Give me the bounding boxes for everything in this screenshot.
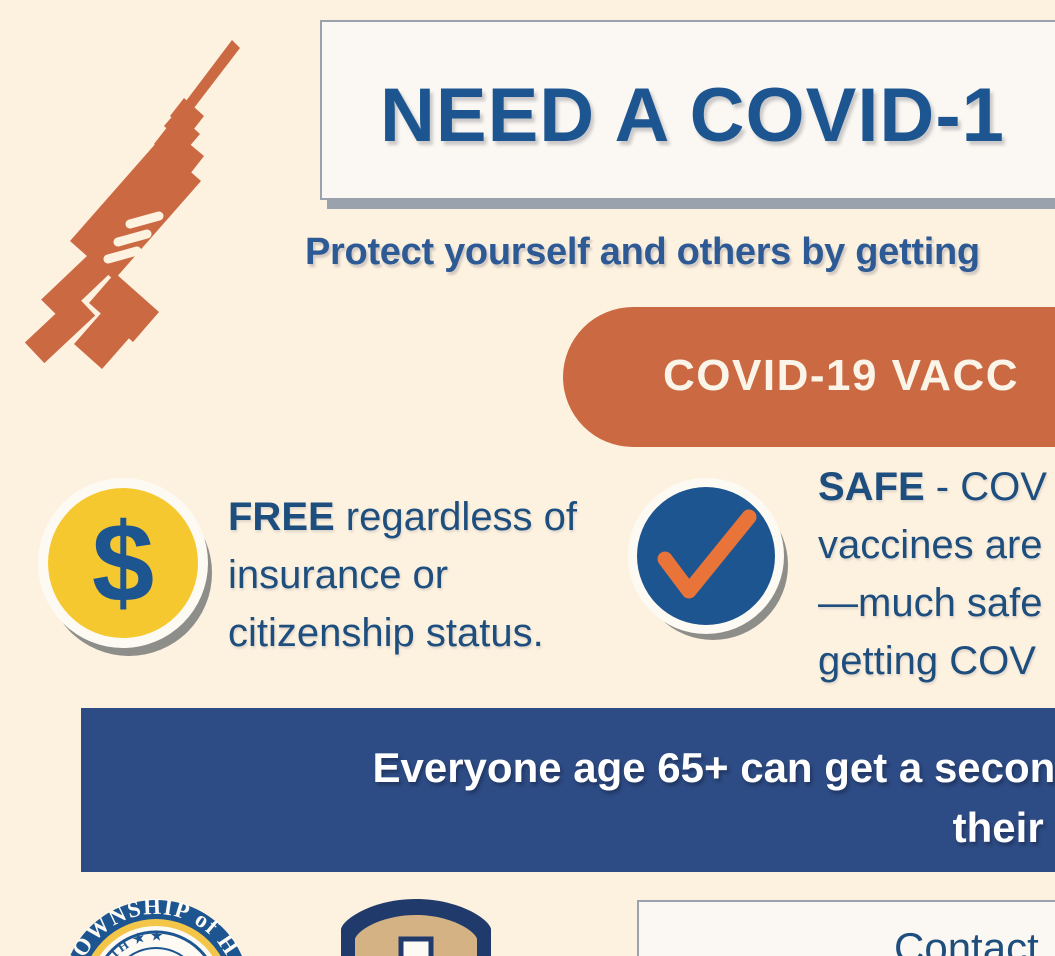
phone-signal-icon (699, 920, 829, 956)
page-title: NEED A COVID-1 (380, 72, 1005, 159)
vaccine-clinic-banner-label: COVID-19 VACC (663, 351, 1019, 401)
township-of-hamilton-seal: TOWNSHIP of HAMILTON NTH ★ ★ (60, 898, 252, 956)
vaccine-clinic-banner: COVID-19 VACC (563, 307, 1055, 447)
dollar-sign-icon: $ (48, 488, 198, 638)
contact-label: Contact (894, 924, 1039, 956)
second-booster-banner-text: Everyone age 65+ can get a secondtheir f… (151, 738, 1055, 858)
safe-benefit-text: SAFE - COVvaccines are—much safegetting … (818, 458, 1055, 690)
checkmark-icon (637, 487, 775, 625)
safe-benefit-line4: getting COV (818, 639, 1036, 683)
safe-benefit-line2: vaccines are (818, 523, 1043, 567)
free-benefit-text: FREE regardless of insurance or citizens… (228, 488, 618, 662)
covid-vaccine-flyer: NEED A COVID-1 Protect yourself and othe… (0, 0, 1055, 956)
safe-benefit-lead: SAFE (818, 465, 925, 509)
second-booster-line2: their fi (953, 804, 1055, 851)
second-booster-banner: Everyone age 65+ can get a secondtheir f… (81, 708, 1055, 872)
contact-card[interactable]: Contact (637, 900, 1055, 956)
ems-shield-badge (333, 895, 499, 956)
free-benefit-lead: FREE (228, 495, 335, 539)
safe-benefit-body: - COV (925, 465, 1047, 509)
headline-card: NEED A COVID-1 (320, 20, 1055, 200)
syringe-icon (18, 28, 288, 373)
second-booster-line1: Everyone age 65+ can get a second (372, 744, 1055, 791)
safe-benefit-line3: —much safe (818, 581, 1043, 625)
subheadline: Protect yourself and others by getting (305, 231, 980, 274)
